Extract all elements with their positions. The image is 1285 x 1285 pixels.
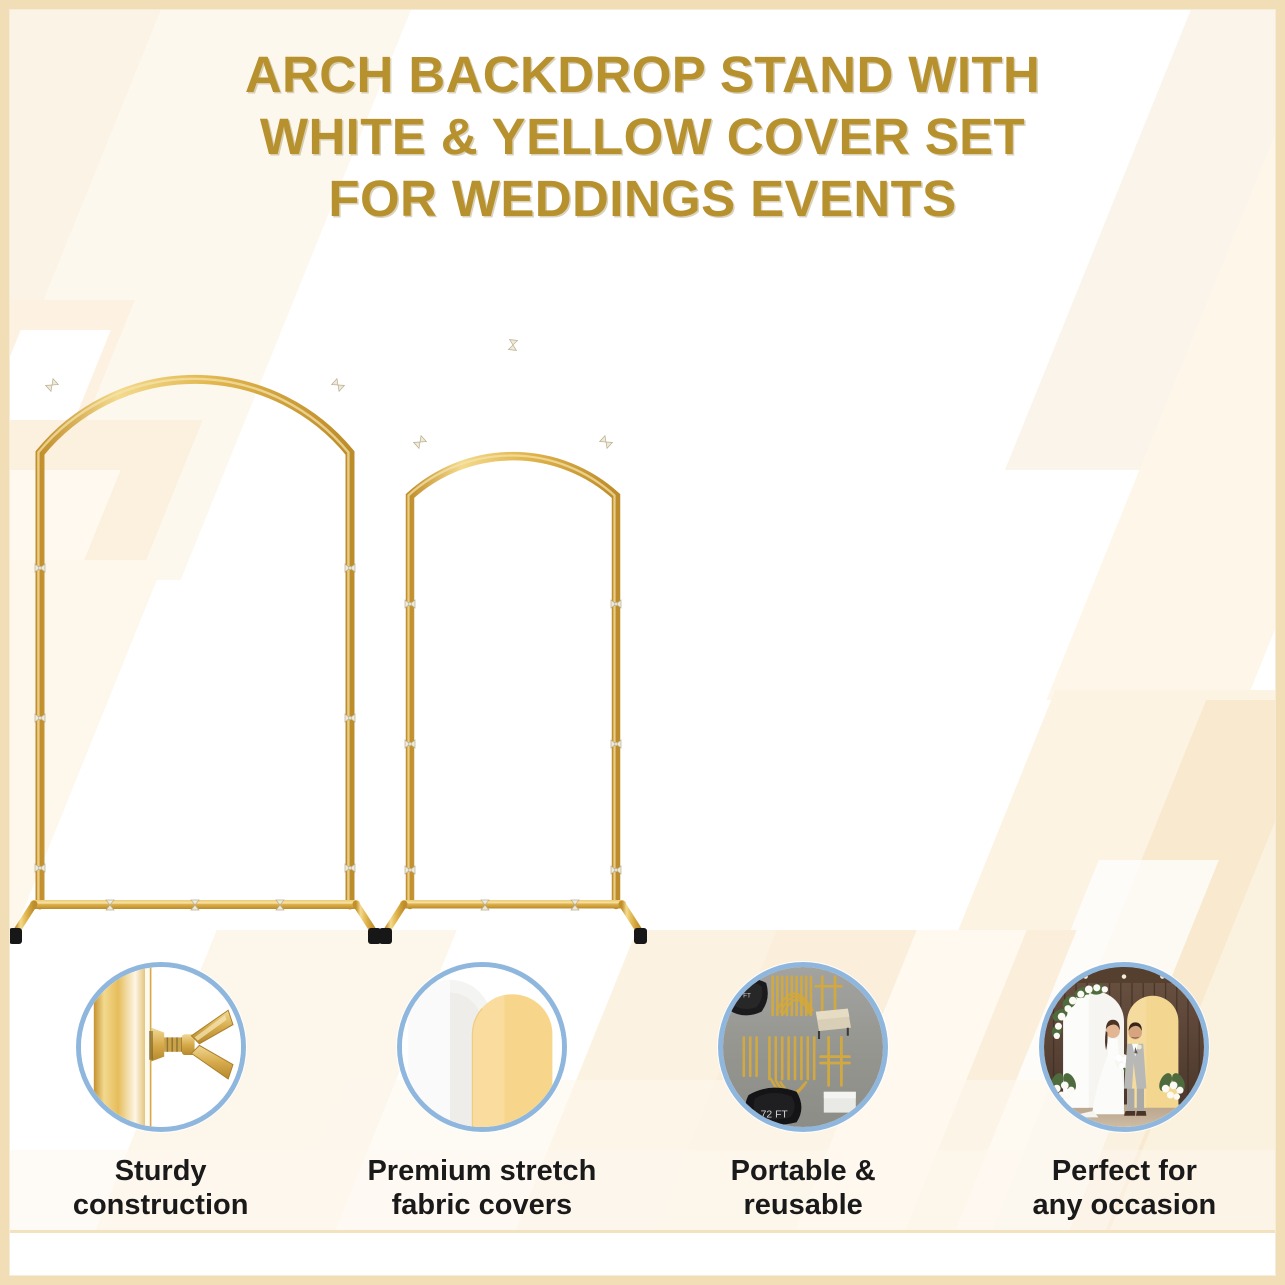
feature-item-portable-reusable: FT [643, 962, 964, 1262]
feature-label: Premium stretch fabric covers [367, 1154, 596, 1222]
wingnut-connector-group [405, 340, 621, 910]
white-yellow-fabric-cover-icon [402, 967, 562, 1127]
title-line-2: WHITE & YELLOW COVER SET [0, 106, 1285, 168]
feature-label: Portable & reusable [731, 1154, 876, 1222]
wedding-couple-arch-photo-icon [1044, 967, 1204, 1127]
bag-size-label: 72 FT [761, 1109, 789, 1120]
title-line-3: FOR WEDDINGS EVENTS [0, 168, 1285, 230]
small-arch-stand [379, 340, 647, 944]
feature-item-any-occasion: Perfect for any occasion [964, 962, 1285, 1262]
feature-highlights-row: Sturdy construction Premium stretch [0, 962, 1285, 1262]
product-hero-image [0, 268, 1285, 958]
feature-label: Sturdy construction [73, 1154, 249, 1222]
feature-thumbnail [397, 962, 567, 1132]
arch-stands-illustration [0, 268, 1285, 958]
svg-text:FT: FT [743, 992, 751, 999]
arch-foot [379, 928, 392, 944]
feature-item-fabric-covers: Premium stretch fabric covers [321, 962, 642, 1262]
page-title: ARCH BACKDROP STAND WITH WHITE & YELLOW … [0, 44, 1285, 230]
arch-foot [634, 928, 647, 944]
carry-bag: FT [727, 978, 768, 1015]
wingnut-connector-group [35, 268, 355, 910]
feature-label: Perfect for any occasion [1033, 1154, 1217, 1222]
gold-pipe-wingnut-icon [81, 967, 241, 1127]
feature-thumbnail [1039, 962, 1209, 1132]
disassembled-parts-carry-bag-icon: FT [723, 967, 883, 1127]
carry-bag-72ft: 72 FT [746, 1088, 802, 1125]
product-marketing-poster: ARCH BACKDROP STAND WITH WHITE & YELLOW … [0, 0, 1285, 1285]
feature-item-sturdy-construction: Sturdy construction [0, 962, 321, 1262]
arch-foot [9, 928, 22, 944]
title-line-1: ARCH BACKDROP STAND WITH [0, 44, 1285, 106]
feature-thumbnail: FT [718, 962, 888, 1132]
large-arch-stand [9, 268, 381, 944]
feature-thumbnail [76, 962, 246, 1132]
